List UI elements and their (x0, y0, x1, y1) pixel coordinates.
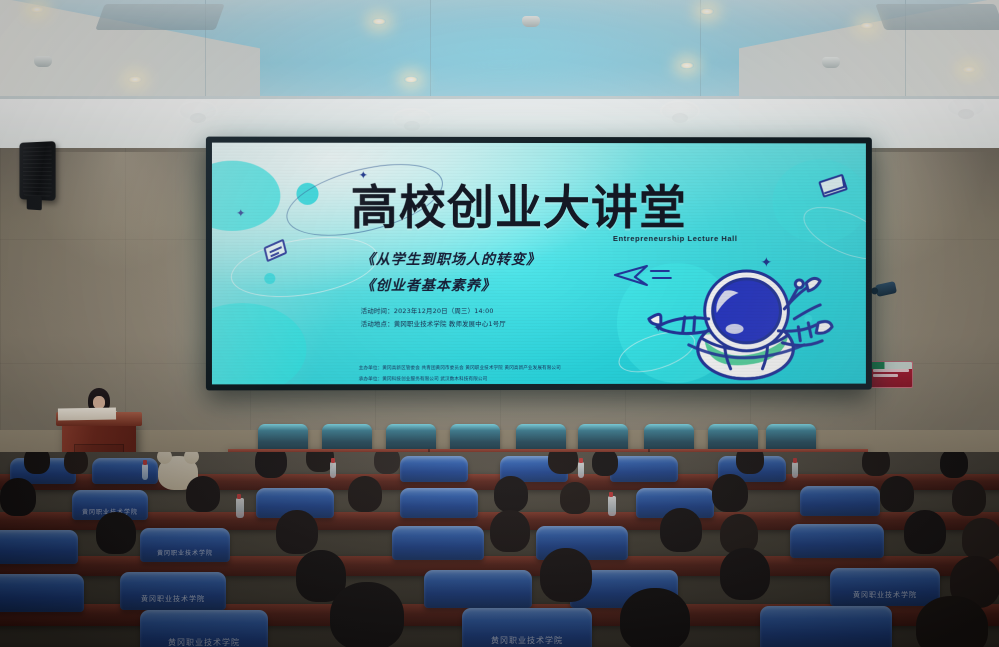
ceiling (0, 0, 999, 150)
led-screen[interactable]: ✦ ✦ ✦ ✦ (206, 137, 872, 391)
sign-line (873, 369, 909, 372)
screen-title-en: Entrepreneurship Lecture Hall (613, 234, 738, 243)
attendee-head (560, 482, 590, 514)
attendee-head (916, 596, 988, 647)
audience-seat: 黄冈职业技术学院 (140, 528, 230, 562)
attendee-head (720, 548, 770, 600)
screen-organizer-2: 承办单位：黄冈科技创业服务有限公司 武汉数木科技有限公司 (359, 376, 488, 382)
attendee-head (96, 512, 136, 554)
audience-seat (400, 488, 478, 518)
audience-seat (610, 456, 678, 482)
screen-subtitle-2: 《创业者基本素养》 (361, 275, 496, 295)
audience-seat (424, 570, 532, 608)
audience-seat (400, 456, 468, 482)
seat-logo: 黄冈职业技术学院 (491, 635, 563, 646)
seat-logo: 黄冈职业技术学院 (853, 590, 917, 600)
decor-blob (212, 161, 280, 231)
decor-blob (212, 303, 307, 384)
water-bottle (330, 462, 336, 478)
audience-seat (0, 574, 84, 612)
audience-seat: 黄冈职业技术学院 (830, 568, 940, 606)
audience-seat (92, 458, 158, 484)
attendee-head (255, 452, 287, 478)
attendee-head (904, 510, 946, 554)
attendee-head (620, 588, 690, 647)
screen-organizer-1: 主办单位：黄冈高新区管委会 共青团黄冈市委员会 黄冈职业技术学院 黄冈高新产业发… (359, 365, 561, 371)
smoke-detector-icon (34, 56, 52, 67)
podium-papers (58, 407, 116, 420)
downlight (128, 76, 142, 83)
attendee-head (24, 452, 50, 474)
led-screen-content: ✦ ✦ ✦ ✦ (212, 143, 866, 385)
sign-header (870, 362, 912, 369)
ceiling-seam (430, 0, 431, 100)
audience-seat (800, 486, 880, 516)
attendee-head (592, 452, 618, 476)
downlight (680, 62, 694, 69)
attendee-head (348, 476, 382, 512)
seat-logo: 黄冈职业技术学院 (168, 637, 240, 647)
attendee-head (494, 476, 528, 512)
air-vent (95, 4, 224, 30)
seat-logo: 黄冈职业技术学院 (157, 548, 213, 557)
water-bottle (578, 462, 584, 478)
attendee-head (880, 476, 914, 512)
audience-seat (760, 606, 892, 647)
water-bottle (608, 496, 616, 516)
attendee-head (862, 452, 890, 476)
seat-logo: 黄冈职业技术学院 (141, 594, 205, 604)
attendee-head (952, 480, 986, 516)
attendee-head (962, 518, 999, 560)
audience-area: 黄冈职业技术学院 黄冈职业技术学院 黄冈职业技术学院 (0, 452, 999, 647)
downlight (30, 6, 44, 13)
attendee-head (660, 508, 702, 552)
air-vent (875, 4, 999, 30)
audience-seat (790, 524, 884, 558)
lecture-hall-photo: ✦ ✦ ✦ ✦ (0, 0, 999, 647)
downlight (372, 18, 386, 25)
attendee-head (736, 452, 764, 474)
attendee-head (940, 452, 968, 478)
decor-orbit-ring (227, 228, 383, 307)
attendee-head (186, 476, 220, 512)
wall-speaker-icon (19, 141, 55, 201)
screen-event-place: 活动地点：黄冈职业技术学院 教师发展中心1号厅 (361, 319, 506, 328)
screen-title: 高校创业大讲堂 (351, 185, 761, 232)
sign-line (873, 374, 898, 377)
attendee-head (64, 452, 88, 474)
audience-seat (392, 526, 484, 560)
astronaut-mascot-icon (643, 261, 842, 381)
downlight (962, 66, 976, 73)
safety-notice-sign (869, 361, 913, 388)
screen-event-time: 活动时间：2023年12月20日（周三）14:00 (361, 306, 494, 315)
water-bottle (792, 462, 798, 478)
audience-seat: 黄冈职业技术学院 (140, 610, 268, 647)
smoke-detector-icon (522, 16, 540, 27)
attendee-head (548, 452, 578, 474)
attendee-head (374, 452, 400, 474)
ceiling-seam (700, 0, 701, 100)
sparkle-icon: ✦ (236, 209, 245, 220)
attendee-head (330, 582, 404, 647)
attendee-head (490, 510, 530, 552)
podium-top (56, 412, 142, 426)
smoke-detector-icon (822, 57, 840, 68)
downlight (700, 8, 714, 15)
audience-seat: 黄冈职业技术学院 (462, 608, 592, 647)
attendee-head (712, 474, 748, 512)
attendee-head (0, 478, 36, 516)
audience-seat (0, 530, 78, 564)
speaker-grill (23, 145, 52, 196)
attendee-head (540, 548, 592, 602)
screen-subtitle-1: 《从学生到职场人的转变》 (361, 249, 541, 269)
water-bottle (236, 498, 244, 518)
downlight (860, 22, 874, 29)
audience-seat: 黄冈职业技术学院 (120, 572, 226, 610)
downlight (404, 76, 418, 83)
water-bottle (142, 464, 148, 480)
attendee-head (276, 510, 318, 554)
